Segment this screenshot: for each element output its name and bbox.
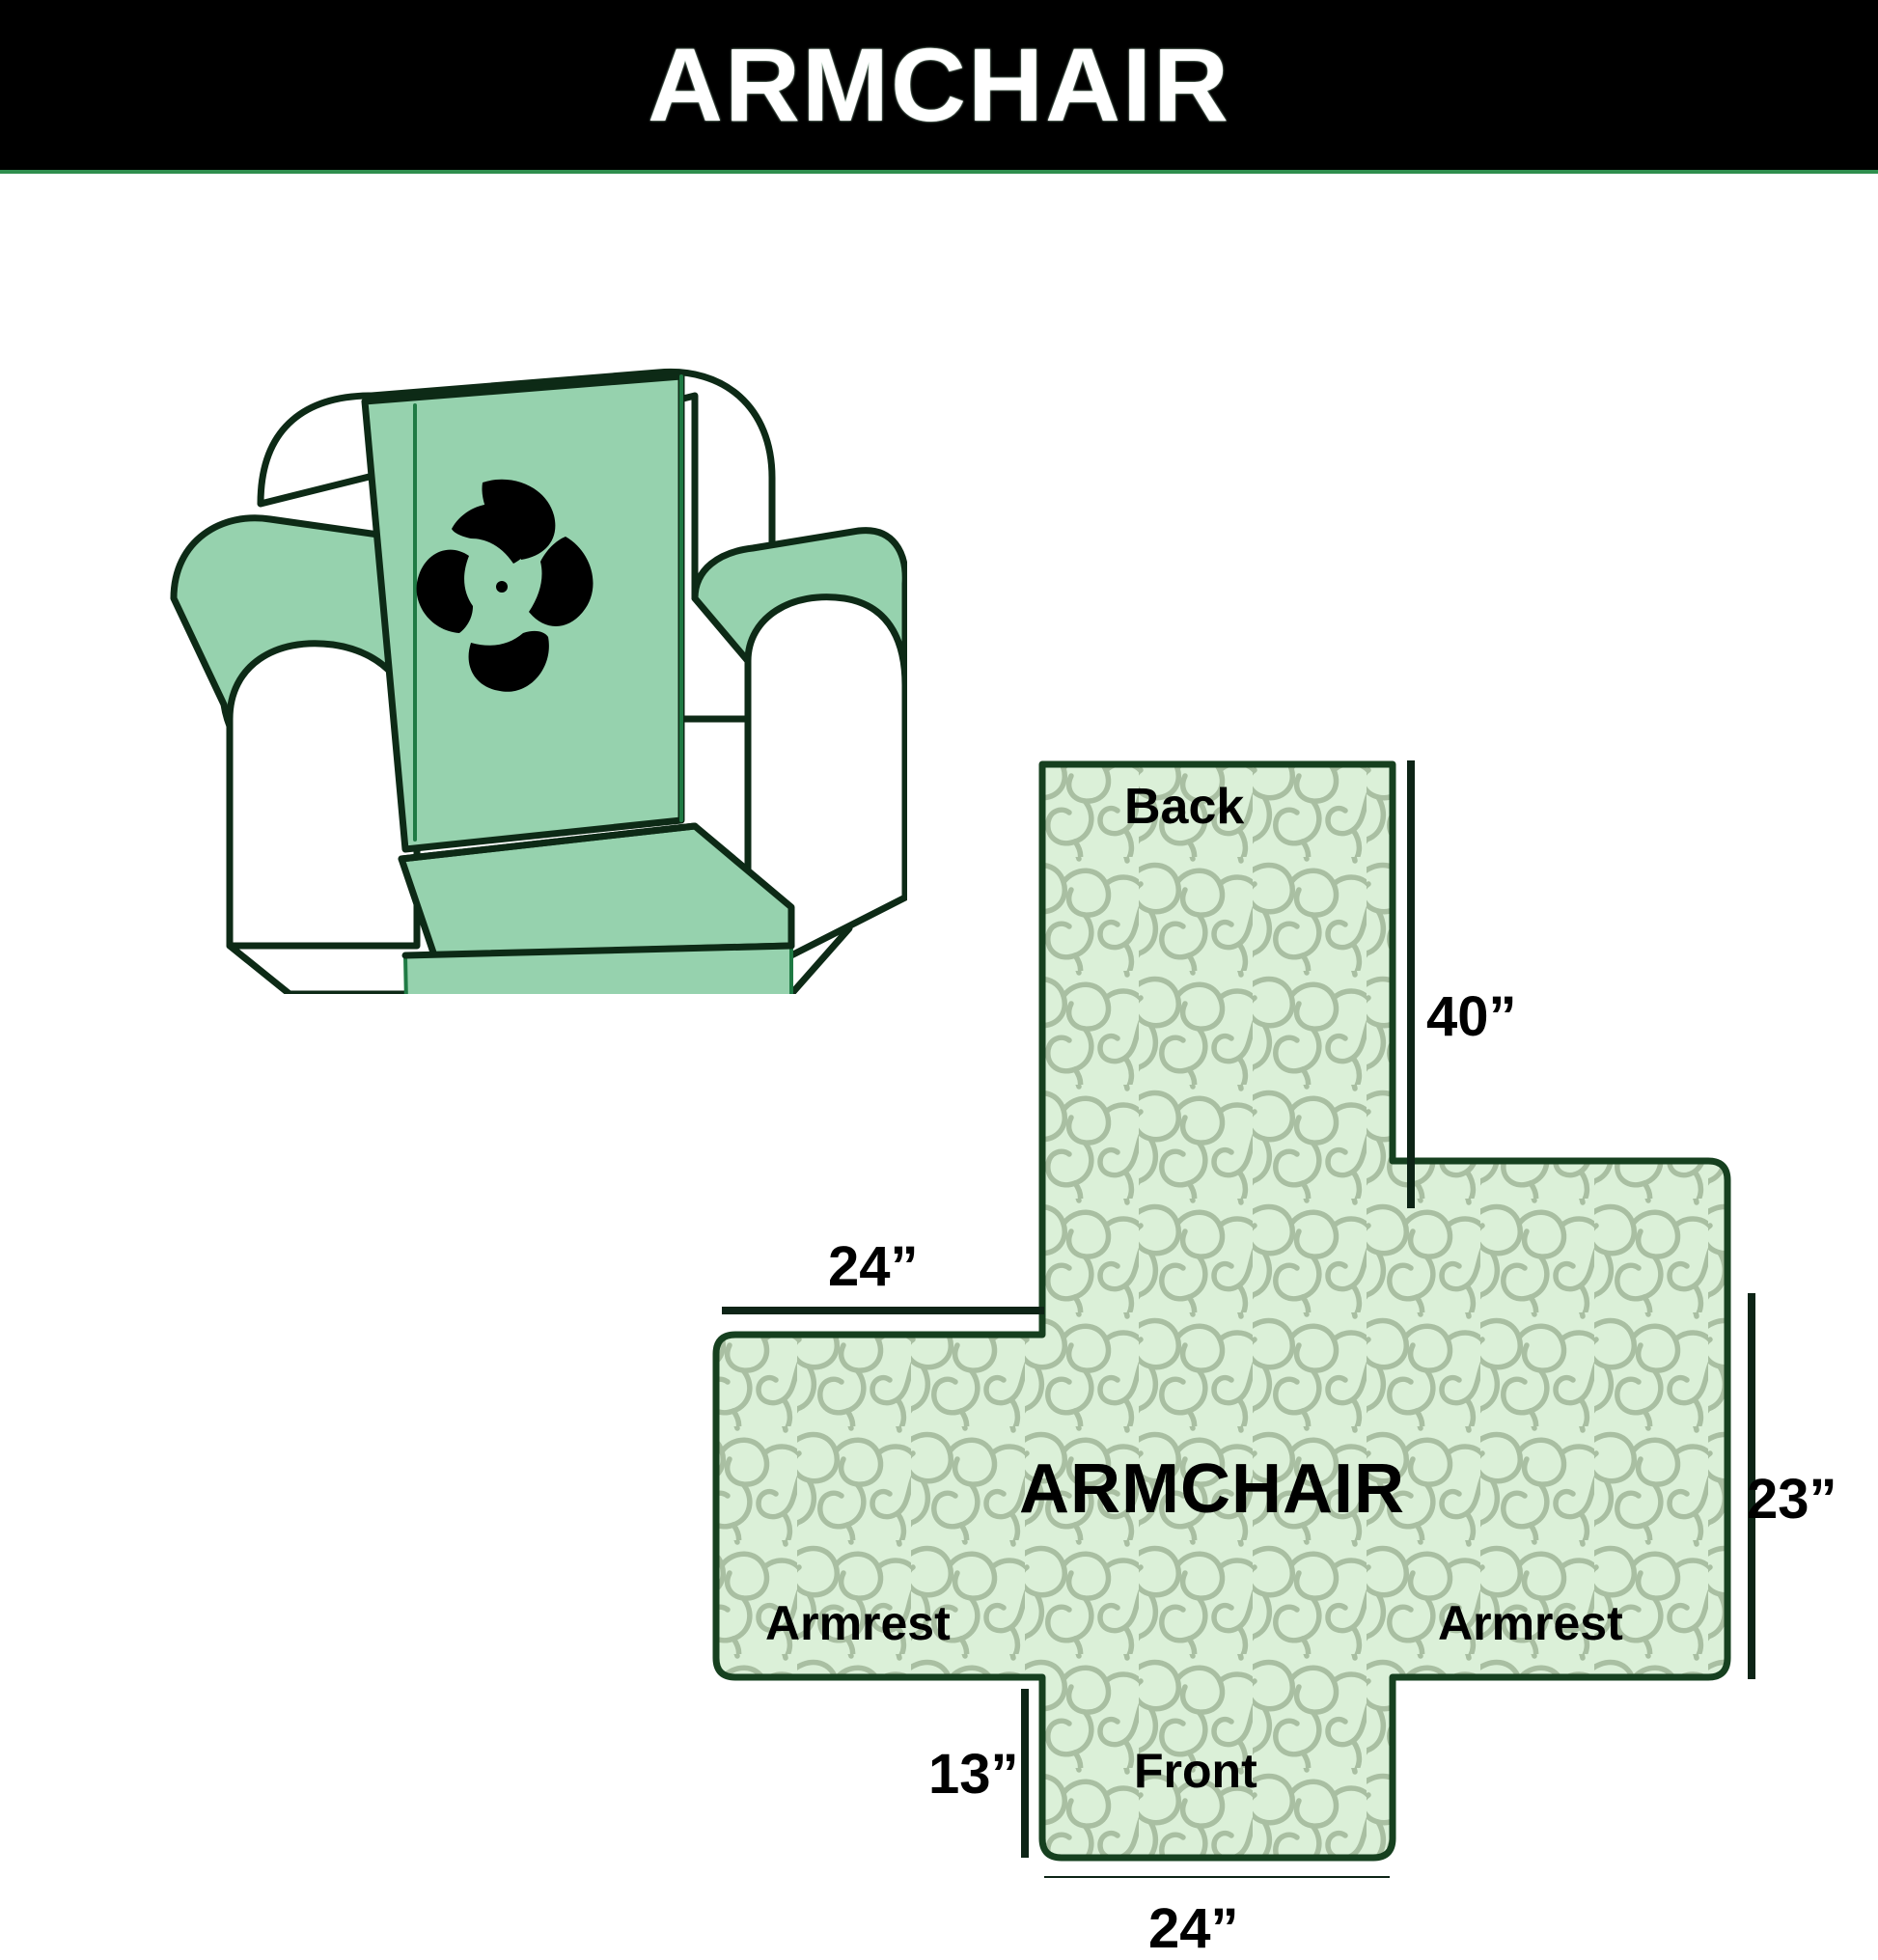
page-title: ARMCHAIR	[648, 33, 1230, 137]
armchair-illustration: .ln { fill:none; stroke:#0d2a16; stroke-…	[116, 280, 907, 994]
dimension-back-height: 40”	[1426, 989, 1517, 1045]
label-front-panel: Front	[1134, 1747, 1257, 1795]
label-back-panel: Back	[1124, 782, 1244, 832]
dimension-back-width: 24”	[828, 1239, 919, 1295]
dimension-armrest-height: 23”	[1747, 1472, 1837, 1528]
label-armrest-left: Armrest	[765, 1599, 951, 1647]
header-banner: ARMCHAIR	[0, 0, 1878, 174]
label-armrest-right: Armrest	[1438, 1599, 1623, 1647]
chair-seat-skirt	[405, 946, 791, 994]
label-armchair-center: ARMCHAIR	[1019, 1454, 1405, 1524]
diagram-canvas: .ln { fill:none; stroke:#0d2a16; stroke-…	[0, 174, 1878, 1878]
dimension-front-width: 24”	[1148, 1901, 1239, 1957]
dimension-front-height: 13”	[928, 1747, 1019, 1803]
